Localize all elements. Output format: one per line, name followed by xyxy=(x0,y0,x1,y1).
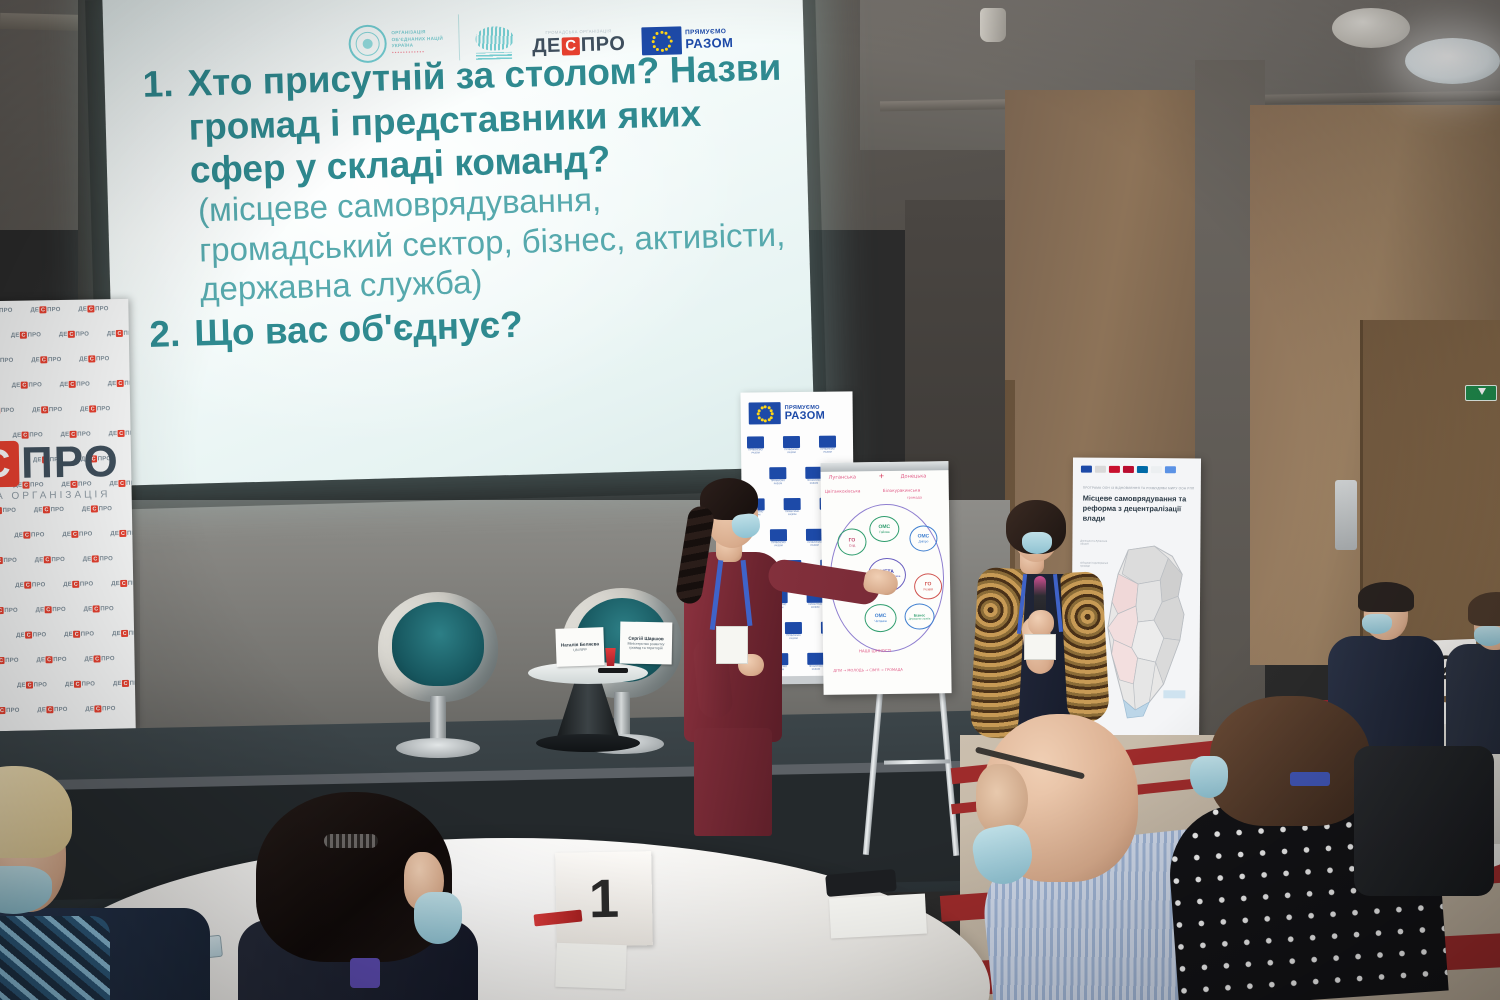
ball-chair-shell xyxy=(378,592,498,702)
press-wall-logo-tile: ДЕСПРО xyxy=(15,581,45,589)
presenter-badge xyxy=(716,626,748,664)
press-wall-subtitle: ЬКА ОРГАНІЗАЦІЯ xyxy=(0,489,111,502)
donor-logo-sweden-icon xyxy=(1137,466,1148,473)
attendee-polka-dot xyxy=(1142,700,1442,1000)
eu-star-icon xyxy=(668,35,671,38)
smoke-detector-icon xyxy=(1332,8,1410,48)
eu-star-icon xyxy=(764,419,767,422)
attendee-red-top-torso xyxy=(1446,644,1500,754)
paper-front-center xyxy=(555,943,626,989)
attendee-blonde-pattern xyxy=(0,916,110,1000)
ball-chair-seat xyxy=(392,602,484,686)
eu-star-icon xyxy=(668,44,671,47)
wall-control-panel[interactable] xyxy=(1335,480,1357,550)
press-wall-logo-tile: ДЕСПРО xyxy=(0,707,20,715)
presenter-pointing xyxy=(660,470,900,830)
eu-star-icon xyxy=(665,32,668,35)
name-card-1-org: UN RPP xyxy=(573,647,587,652)
press-wall-logo-tile: ДЕСПРО xyxy=(83,555,113,563)
tree-icon xyxy=(476,26,515,51)
press-wall-logo-tile: ДЕСПРО xyxy=(65,680,95,688)
mic-presenter-face-mask xyxy=(1022,532,1052,554)
press-wall-logo-tile: ДЕСПРО xyxy=(110,530,135,538)
slide-content: 1. Хто присутній за столом? Назви громад… xyxy=(142,46,790,357)
eu-star-icon xyxy=(758,409,761,412)
eu-banner-wordmark: ПРЯМУЄМО РАЗОМ xyxy=(785,404,825,421)
donor-logo-swiss-icon xyxy=(1151,466,1162,473)
presenter-legs xyxy=(694,728,772,836)
press-wall-logo-tile: ДЕСПРО xyxy=(35,556,65,564)
eu-star-icon xyxy=(764,405,767,408)
attendee-ponytail xyxy=(228,788,478,1000)
press-wall-logo-tile: ДЕСПРО xyxy=(0,557,17,565)
press-wall-logo-tile: ДЕСПРО xyxy=(30,306,60,314)
map-banner-kicker: ПРОГРАМА ООН ІЗ ВІДНОВЛЕННЯ ТА РОЗБУДОВИ… xyxy=(1083,486,1195,491)
flipchart-header-sub-tail: громада xyxy=(907,495,922,499)
eu-star-icon xyxy=(760,418,763,421)
eu-star-icon xyxy=(651,40,654,43)
eu-star-icon xyxy=(767,418,770,421)
press-wall-wordmark: С ПРО xyxy=(0,437,119,490)
press-wall-logo-tile: ДЕСПРО xyxy=(12,381,42,389)
press-wall-logo-tile: ДЕСПРО xyxy=(0,607,18,615)
donor-logo-denmark-icon xyxy=(1109,466,1120,473)
press-wall-logo-tile: ДЕСПРО xyxy=(79,355,109,363)
press-wall-logo-tile: ДЕСПРО xyxy=(84,655,114,663)
despro-press-wall: ДЕСПРОДЕСПРОДЕСПРОДЕСПРОДЕСПРОДЕСПРОДЕСП… xyxy=(0,299,136,731)
donor-logo-canada-icon xyxy=(1095,466,1106,473)
attendee-back-right-mask xyxy=(1362,614,1392,634)
flipchart-bubble-5-sub: Державна служба xyxy=(909,617,931,620)
press-wall-logo-tile: ДЕСПРО xyxy=(63,580,93,588)
attendee-polka-mask xyxy=(1190,756,1228,798)
press-wall-logo-tile: ДЕСПРО xyxy=(113,680,136,688)
press-wall-logo-tile: ДЕСПРО xyxy=(31,356,61,364)
press-wall-logo-tile: ДЕСПРО xyxy=(0,657,19,665)
press-wall-logo-tile: ДЕСПРО xyxy=(0,507,16,515)
press-wall-logo-tile: ДЕСПРО xyxy=(17,681,47,689)
attendee-polka-hair xyxy=(1210,696,1370,826)
press-wall-logo-tile: ДЕСПРО xyxy=(0,307,13,315)
press-wall-logo-tile: ДЕСПРО xyxy=(36,656,66,664)
slide-item-1-text: Хто присутній за столом? Назви громад і … xyxy=(187,46,785,193)
projection-screen: ОРГАНІЗАЦІЯ ОБ'ЄДНАНИХ НАЦІЙ УКРАЇНА •••… xyxy=(102,0,815,486)
mic-presenter-badge xyxy=(1024,634,1056,660)
slide-item-1-paren: (місцеве самоврядування, громадський сек… xyxy=(198,175,789,310)
photo-scene: ОРГАНІЗАЦІЯ ОБ'ЄДНАНИХ НАЦІЙ УКРАЇНА •••… xyxy=(0,0,1500,1000)
ceiling-light xyxy=(1405,38,1500,84)
slide-item-1-number: 1. xyxy=(142,62,174,106)
name-card-1: Наталія Беляєва UN RPP xyxy=(555,627,604,667)
map-banner-donor-logos xyxy=(1081,466,1176,474)
eu-star-icon xyxy=(652,36,655,39)
press-wall-logo-tile: ДЕСПРО xyxy=(32,406,62,414)
table-number-card-1: 1 xyxy=(555,851,653,947)
eu-star-icon xyxy=(660,31,663,34)
attendee-polka-lanyard xyxy=(1290,772,1330,786)
mic-presenter-hand xyxy=(1028,610,1054,636)
press-wall-logo-tile: ДЕСПРО xyxy=(112,630,136,638)
eu-banner-head: ПРЯМУЄМО РАЗОМ xyxy=(749,402,826,425)
press-wall-logo-tile: ДЕСПРО xyxy=(82,505,112,513)
press-wall-logo-tile: ДЕСПРО xyxy=(78,305,108,313)
attendee-red-top xyxy=(1446,596,1500,746)
press-wall-logo-tile: ДЕСПРО xyxy=(34,506,64,514)
eu-banner-tiles: ПРЯМУЄМО РАЗОМПРЯМУЄМО РАЗОМПРЯМУЄМО РАЗ… xyxy=(740,391,852,392)
attendee-blonde-hair xyxy=(0,766,72,858)
attendee-ponytail-mask xyxy=(414,892,462,944)
eu-star-icon xyxy=(669,40,672,43)
press-wall-logo-tile: ДЕСПРО xyxy=(11,331,41,339)
press-wall-logo-tile: ДЕСПРО xyxy=(0,357,14,365)
eu-banner-logo-tile: ПРЯМУЄМО РАЗОМ xyxy=(747,436,764,454)
press-wall-tiles: ДЕСПРОДЕСПРОДЕСПРОДЕСПРОДЕСПРОДЕСПРОДЕСП… xyxy=(0,299,128,301)
press-wall-logo-tile: ДЕСПРО xyxy=(0,407,14,415)
donor-logo-un-icon xyxy=(1165,466,1176,473)
press-wall-logo-tile: ДЕСПРО xyxy=(37,706,67,714)
attendee-blonde xyxy=(0,760,210,1000)
eu-banner-logo-tile: ПРЯМУЄМО РАЗОМ xyxy=(819,436,836,454)
paper-front-right xyxy=(829,894,927,939)
ball-chair-stem xyxy=(430,696,446,742)
stage-coffee-table xyxy=(528,662,648,754)
eu-banner-logo-tile: ПРЯМУЄМО РАЗОМ xyxy=(783,436,800,454)
press-wall-big-text: ПРО xyxy=(21,437,119,489)
table-pedestal xyxy=(556,676,620,740)
donor-logo-eu-icon xyxy=(1081,466,1092,473)
donor-logo-norway-icon xyxy=(1123,466,1134,473)
eu-star-icon xyxy=(771,412,774,415)
hair-clip-icon xyxy=(324,834,378,848)
remote-control[interactable] xyxy=(598,668,628,673)
eu-flag-icon xyxy=(749,402,781,424)
ball-chair-base xyxy=(396,738,480,758)
ball-chair-left[interactable] xyxy=(378,592,498,702)
press-wall-logo-tile: ДЕСПРО xyxy=(80,405,110,413)
ceiling-speaker-icon xyxy=(980,8,1006,42)
table-base xyxy=(536,734,640,752)
attendee-back-right-hair xyxy=(1358,582,1414,612)
attendee-red-top-mask xyxy=(1474,626,1500,646)
exit-arrow-icon xyxy=(1478,388,1486,395)
eu-star-icon xyxy=(656,32,659,35)
press-wall-logo-tile: ДЕСПРО xyxy=(16,631,46,639)
eu-star-icon xyxy=(653,45,656,48)
flipchart-header-right: Донецька xyxy=(901,473,927,479)
slide-item-1: 1. Хто присутній за столом? Назви громад… xyxy=(142,46,785,194)
slide-item-2-number: 2. xyxy=(149,312,181,356)
press-wall-logo-tile: ДЕСПРО xyxy=(60,380,90,388)
eu-star-icon xyxy=(757,412,760,415)
flipchart-bubble-1-sub: Дніпро xyxy=(919,539,929,543)
eu-star-icon xyxy=(758,416,761,419)
press-wall-logo-tile: ДЕСПРО xyxy=(62,530,92,538)
eu-star-icon xyxy=(760,406,763,409)
flipchart-bubble-3-sub: Розвій xyxy=(923,587,932,591)
press-wall-logo-tile: ДЕСПРО xyxy=(111,580,136,588)
press-wall-logo-tile: ДЕСПРО xyxy=(64,630,94,638)
press-wall-logo-tile: ДЕСПРО xyxy=(85,705,115,713)
press-wall-logo-tile: ДЕСПРО xyxy=(14,531,44,539)
attendee-bald-ear xyxy=(976,764,1028,834)
slide-item-2-text: Що вас об'єднує? xyxy=(194,303,523,356)
eu-banner-line2: РАЗОМ xyxy=(785,410,825,421)
press-wall-logo-tile: ДЕСПРО xyxy=(84,605,114,613)
press-wall-accent-letter: С xyxy=(0,441,20,488)
attendee-red-top-hair xyxy=(1468,592,1500,626)
attendee-ponytail-lanyard xyxy=(350,958,380,988)
phone-dark[interactable] xyxy=(825,869,897,897)
press-wall-logo-tile: ДЕСПРО xyxy=(36,606,66,614)
press-wall-logo-tile: ДЕСПРО xyxy=(59,331,89,339)
backpack xyxy=(1354,746,1494,896)
